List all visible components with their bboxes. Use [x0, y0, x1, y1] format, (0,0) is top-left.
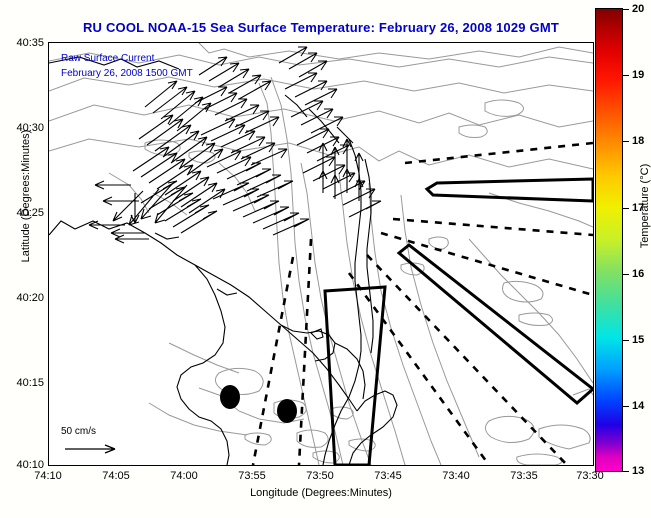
xtick-3: 73:55: [238, 470, 266, 482]
right-arrow-icon: [63, 442, 133, 456]
colorbar-tick-19: 19: [632, 69, 644, 81]
colorbar: [595, 8, 623, 472]
colorbar-tick-15: 15: [632, 334, 644, 346]
colorbar-title: Temperature (°C): [639, 116, 651, 296]
xtick-4: 73:50: [306, 470, 334, 482]
sst-contours: [49, 43, 593, 465]
ytick-4: 40:15: [16, 377, 44, 389]
annotation-line-2: February 26, 2008 1500 GMT: [61, 68, 193, 79]
map-plot-area: Raw Surface Current February 26, 2008 15…: [48, 42, 594, 466]
y-axis-title: Latitude (Degrees:Minutes): [20, 86, 32, 306]
x-axis-title: Longitude (Degrees:Minutes): [48, 487, 594, 499]
colorbar-tick-14: 14: [632, 400, 644, 412]
chart-title: RU COOL NOAA-15 Sea Surface Temperature:…: [48, 20, 594, 35]
map-canvas: [49, 43, 593, 465]
annotation-line-1: Raw Surface Current: [61, 53, 154, 64]
colorbar-tick-20: 20: [632, 3, 644, 15]
xtick-1: 74:05: [102, 470, 130, 482]
xtick-0: 74:10: [34, 470, 62, 482]
xtick-6: 73:40: [442, 470, 470, 482]
xtick-5: 73:45: [374, 470, 402, 482]
scale-legend: 50 cm/s: [61, 426, 181, 460]
xtick-2: 74:00: [170, 470, 198, 482]
colorbar-tick-13: 13: [632, 465, 644, 477]
scale-legend-label: 50 cm/s: [61, 426, 96, 437]
xtick-7: 73:35: [510, 470, 538, 482]
radar-beam-limits: [253, 143, 593, 465]
ytick-0: 40:35: [16, 37, 44, 49]
ytick-5: 40:10: [16, 459, 44, 471]
sst-figure: RU COOL NOAA-15 Sea Surface Temperature:…: [0, 0, 651, 518]
